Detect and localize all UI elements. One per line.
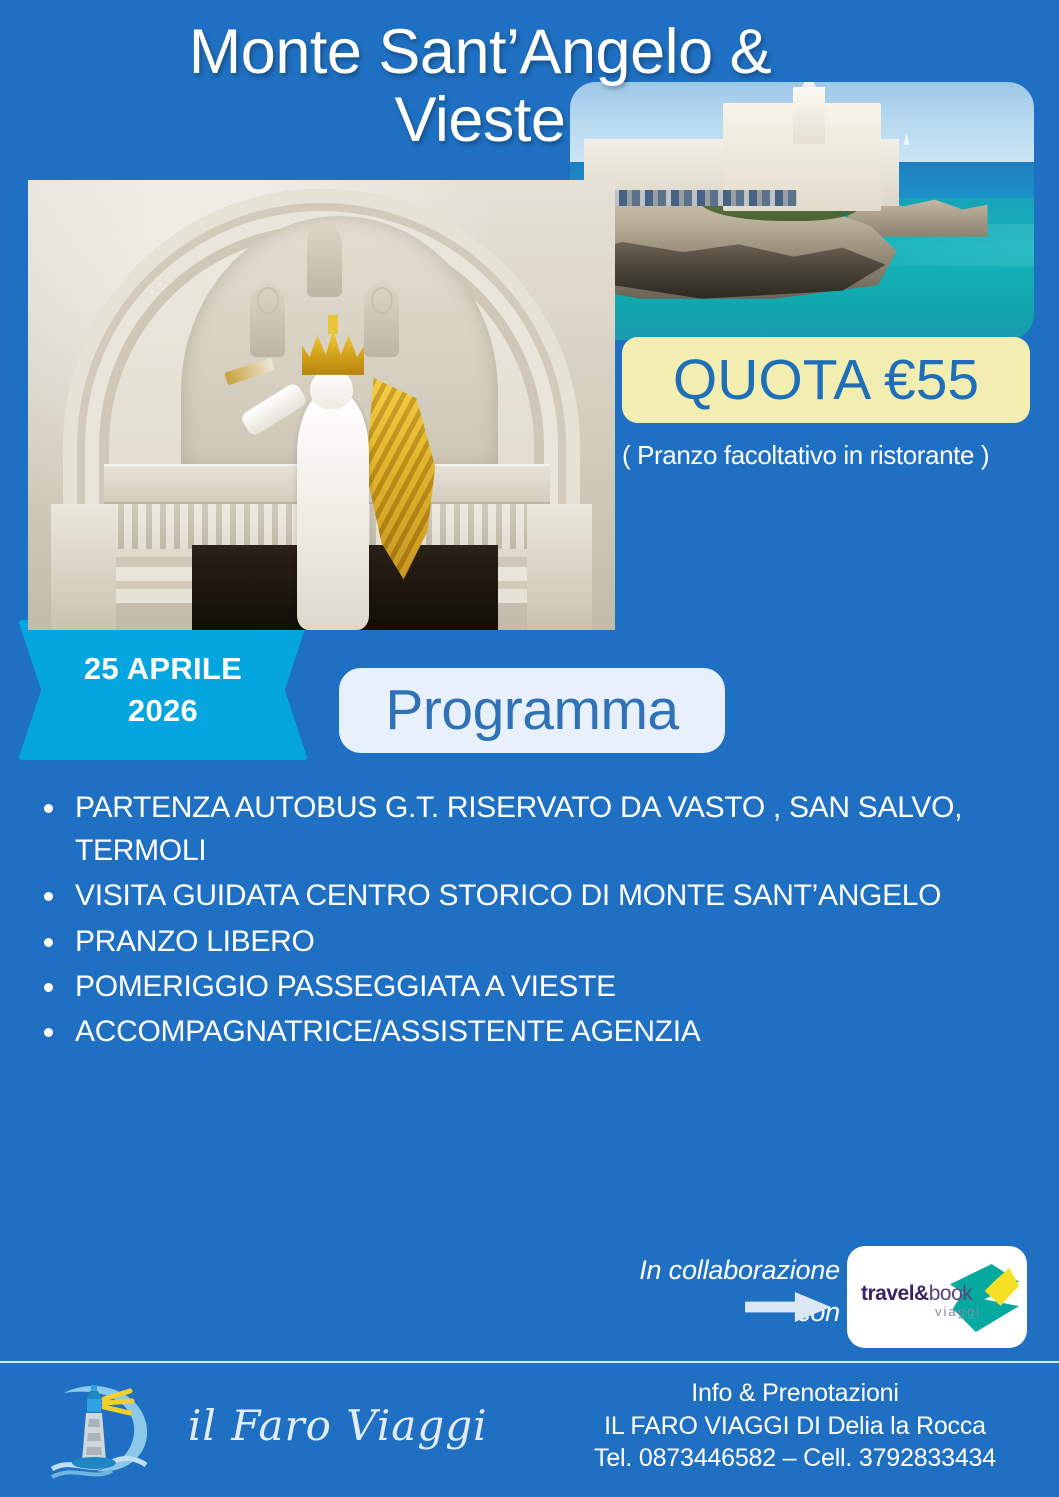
price-note: ( Pranzo facoltativo in ristorante )	[622, 440, 1042, 471]
date-badge-year: 2026	[128, 690, 198, 732]
monte-santangelo-archangel-statue-photo	[28, 180, 615, 630]
bullet-icon	[44, 938, 53, 947]
list-item-label: VISITA GUIDATA CENTRO STORICO DI MONTE S…	[75, 874, 1034, 917]
pilaster-left	[51, 504, 116, 630]
travel-and-book-wordmark: travel&book	[861, 1282, 972, 1306]
collaboration-line-1: In collaborazione	[600, 1250, 840, 1292]
programma-heading-box: Programma	[339, 668, 725, 753]
list-item: VISITA GUIDATA CENTRO STORICO DI MONTE S…	[34, 874, 1034, 917]
pilaster-right	[527, 504, 592, 630]
golden-crown-icon	[302, 328, 364, 375]
price-banner-label: QUOTA €55	[673, 352, 979, 409]
programma-list: PARTENZA AUTOBUS G.T. RISERVATO DA VASTO…	[34, 786, 1034, 1055]
list-item: PRANZO LIBERO	[34, 920, 1034, 963]
footer-contact-line-2: IL FARO VIAGGI DI Delia la Rocca	[560, 1410, 1030, 1443]
bullet-icon	[44, 804, 53, 813]
wordmark-book: book	[929, 1282, 973, 1305]
collaboration-text: In collaborazione con	[600, 1250, 840, 1334]
footer-contact-line-3: Tel. 0873446582 – Cell. 3792833434	[560, 1442, 1030, 1475]
relief-figure-center	[307, 221, 342, 297]
list-item: POMERIGGIO PASSEGGIATA A VIESTE	[34, 965, 1034, 1008]
statue-body	[297, 391, 369, 630]
price-banner: QUOTA €55	[622, 337, 1030, 423]
crown-finial	[328, 315, 338, 334]
lighthouse-icon	[46, 1379, 164, 1483]
travel-poster: Monte Sant’Angelo & Vieste QUOTA €55	[0, 0, 1059, 1497]
il-faro-viaggi-logo[interactable]: il Faro Viaggi	[38, 1375, 468, 1487]
bullet-icon	[44, 983, 53, 992]
parked-cars-row	[593, 190, 797, 205]
travel-and-book-logo[interactable]: travel&book viaggi	[847, 1246, 1027, 1348]
list-item: PARTENZA AUTOBUS G.T. RISERVATO DA VASTO…	[34, 786, 1034, 872]
footer-contact-block: Info & Prenotazioni IL FARO VIAGGI DI De…	[560, 1377, 1030, 1475]
programma-heading-label: Programma	[385, 682, 678, 739]
bullet-icon	[44, 892, 53, 901]
il-faro-viaggi-wordmark: il Faro Viaggi	[188, 1401, 488, 1450]
relief-halo-left	[257, 287, 279, 315]
footer-contact-line-1: Info & Prenotazioni	[560, 1377, 1030, 1410]
list-item-label: POMERIGGIO PASSEGGIATA A VIESTE	[75, 965, 1034, 1008]
wordmark-travel: travel	[861, 1282, 914, 1305]
relief-halo-right	[371, 287, 393, 315]
footer-divider	[0, 1361, 1059, 1363]
list-item-label: PRANZO LIBERO	[75, 920, 1034, 963]
list-item: ACCOMPAGNATRICE/ASSISTENTE AGENZIA	[34, 1010, 1034, 1053]
list-item-label: ACCOMPAGNATRICE/ASSISTENTE AGENZIA	[75, 1010, 1034, 1053]
page-title: Monte Sant’Angelo & Vieste	[120, 18, 840, 154]
wordmark-ampersand: &	[914, 1282, 929, 1305]
date-badge: 25 APRILE 2026	[18, 620, 308, 760]
archangel-michael-statue	[251, 315, 415, 630]
travel-and-book-subtitle: viaggi	[935, 1304, 981, 1319]
date-badge-day-month: 25 APRILE	[84, 648, 242, 690]
bullet-icon	[44, 1028, 53, 1037]
list-item-label: PARTENZA AUTOBUS G.T. RISERVATO DA VASTO…	[75, 786, 1034, 872]
